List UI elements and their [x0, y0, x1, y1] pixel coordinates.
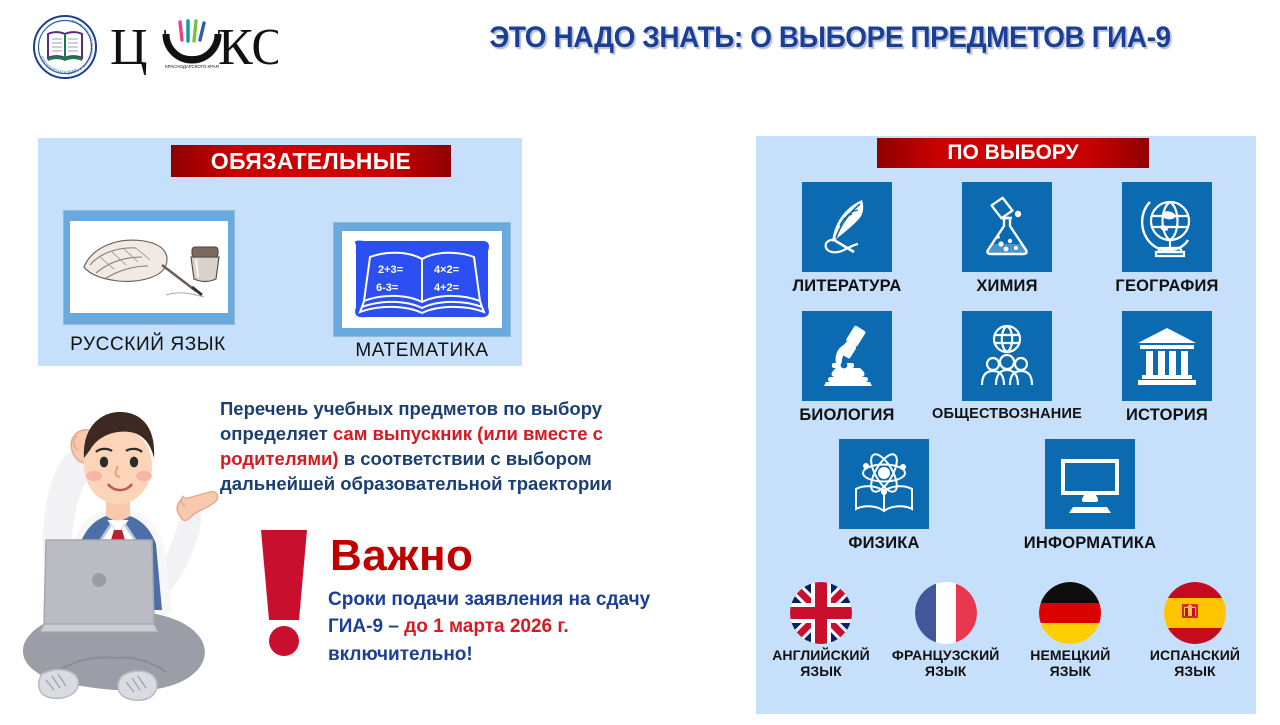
flag-uk-icon — [790, 582, 852, 644]
mathematics-image: 2+3= 6-3= 4×2= 4+2= — [333, 222, 511, 337]
header: МИНИСТЕРСТВО ОБРАЗОВАНИЯ И НАУКИ КРАСНОД… — [0, 0, 1280, 96]
elective-row-1: ЛИТЕРАТУРА — [766, 182, 1248, 296]
elective-item-history[interactable]: ИСТОРИЯ — [1087, 311, 1247, 425]
equation-2: 6-3= — [376, 282, 398, 294]
atom-book-icon — [839, 439, 929, 529]
elective-label-biology: БИОЛОГИЯ — [799, 406, 894, 425]
laptop — [40, 540, 158, 632]
deadline-highlight: до 1 марта 2026 г. — [404, 616, 569, 637]
elective-item-literature[interactable]: ЛИТЕРАТУРА — [767, 182, 927, 296]
mandatory-banner: ОБЯЗАТЕЛЬНЫЕ — [171, 145, 451, 177]
elective-item-biology[interactable]: БИОЛОГИЯ — [767, 311, 927, 425]
student-with-laptop-illustration — [0, 358, 244, 720]
note-paragraph: Перечень учебных предметов по выбору опр… — [220, 396, 670, 497]
ministry-seal-logo: МИНИСТЕРСТВО ОБРАЗОВАНИЯ И НАУКИ КРАСНОД… — [32, 14, 98, 80]
elective-label-geography: ГЕОГРАФИЯ — [1115, 277, 1218, 296]
zoko-sub-text: КРАСНОДАРСКОГО КРАЯ — [165, 64, 219, 69]
language-label-french: ФРАНЦУЗСКИЙЯЗЫК — [892, 648, 1000, 679]
language-label-english: АНГЛИЙСКИЙЯЗЫК — [772, 648, 870, 679]
zoko-logo: Ц КРАСНОДАРСКОГО КРАЯ КО — [110, 17, 278, 77]
flag-germany-icon — [1039, 582, 1101, 644]
zoko-arc-mark: КРАСНОДАРСКОГО КРАЯ — [165, 21, 219, 69]
page-title: ЭТО НАДО ЗНАТЬ: О ВЫБОРЕ ПРЕДМЕТОВ ГИА-9 — [430, 22, 1230, 54]
elective-grid: ЛИТЕРАТУРА — [766, 182, 1248, 553]
elective-item-chemistry[interactable]: ХИМИЯ — [927, 182, 1087, 296]
important-heading: Важно — [330, 534, 473, 578]
language-label-german: НЕМЕЦКИЙЯЗЫК — [1030, 648, 1110, 679]
flag-france-icon — [915, 582, 977, 644]
elective-label-informatics: ИНФОРМАТИКА — [1024, 534, 1156, 553]
people-globe-icon — [962, 311, 1052, 401]
quill-icon — [802, 182, 892, 272]
elective-item-informatics[interactable]: ИНФОРМАТИКА — [1010, 439, 1170, 553]
elective-row-3: ФИЗИКА ИНФОРМАТИКА — [766, 439, 1248, 553]
important-text: Сроки подачи заявления на сдачу ГИА-9 – … — [328, 586, 688, 668]
language-item-spanish[interactable]: ИСПАНСКИЙЯЗЫК — [1136, 582, 1254, 679]
russian-language-caption: РУССКИЙ ЯЗЫК — [40, 334, 256, 356]
elective-label-chemistry: ХИМИЯ — [976, 277, 1037, 296]
elective-item-geography[interactable]: ГЕОГРАФИЯ — [1087, 182, 1247, 296]
zoko-letters-ko: КО — [218, 19, 278, 76]
elective-item-physics[interactable]: ФИЗИКА — [804, 439, 964, 553]
computer-monitor-icon — [1045, 439, 1135, 529]
infographic-stage: МИНИСТЕРСТВО ОБРАЗОВАНИЯ И НАУКИ КРАСНОД… — [0, 0, 1280, 720]
equation-3: 4×2= — [434, 264, 459, 276]
elective-banner: ПО ВЫБОРУ — [877, 138, 1149, 168]
inkwell-icon — [191, 247, 219, 282]
elective-label-literature: ЛИТЕРАТУРА — [793, 277, 902, 296]
deadline-after: включительно! — [328, 644, 473, 665]
zoko-letter-ts: Ц — [110, 19, 148, 76]
museum-building-icon — [1122, 311, 1212, 401]
globe-stand-icon — [1122, 182, 1212, 272]
elective-label-history: ИСТОРИЯ — [1126, 406, 1208, 425]
equation-1: 2+3= — [378, 264, 403, 276]
equation-4: 4+2= — [434, 282, 459, 294]
elective-label-social-studies: ОБЩЕСТВОЗНАНИЕ — [932, 406, 1082, 422]
elective-label-physics: ФИЗИКА — [848, 534, 919, 553]
open-book-equations-image: 2+3= 6-3= 4×2= 4+2= — [342, 231, 502, 328]
mathematics-caption: МАТЕМАТИКА — [330, 340, 514, 362]
logo-group: МИНИСТЕРСТВО ОБРАЗОВАНИЯ И НАУКИ КРАСНОД… — [32, 14, 278, 80]
language-item-english[interactable]: АНГЛИЙСКИЙЯЗЫК — [762, 582, 880, 679]
foreign-language-row: АНГЛИЙСКИЙЯЗЫК ФРАНЦУЗСКИЙЯЗЫК — [762, 582, 1254, 679]
flask-icon — [962, 182, 1052, 272]
exclamation-mark-icon — [255, 528, 313, 656]
flag-spain-icon — [1164, 582, 1226, 644]
language-item-french[interactable]: ФРАНЦУЗСКИЙЯЗЫК — [887, 582, 1005, 679]
elective-item-social-studies[interactable]: ОБЩЕСТВОЗНАНИЕ — [927, 311, 1087, 425]
russian-language-image — [63, 210, 235, 325]
language-label-spanish: ИСПАНСКИЙЯЗЫК — [1150, 648, 1240, 679]
elective-row-2: БИОЛОГИЯ — [766, 311, 1248, 425]
microscope-icon — [802, 311, 892, 401]
quill-pen-inkwell-image — [70, 221, 228, 313]
language-item-german[interactable]: НЕМЕЦКИЙЯЗЫК — [1011, 582, 1129, 679]
